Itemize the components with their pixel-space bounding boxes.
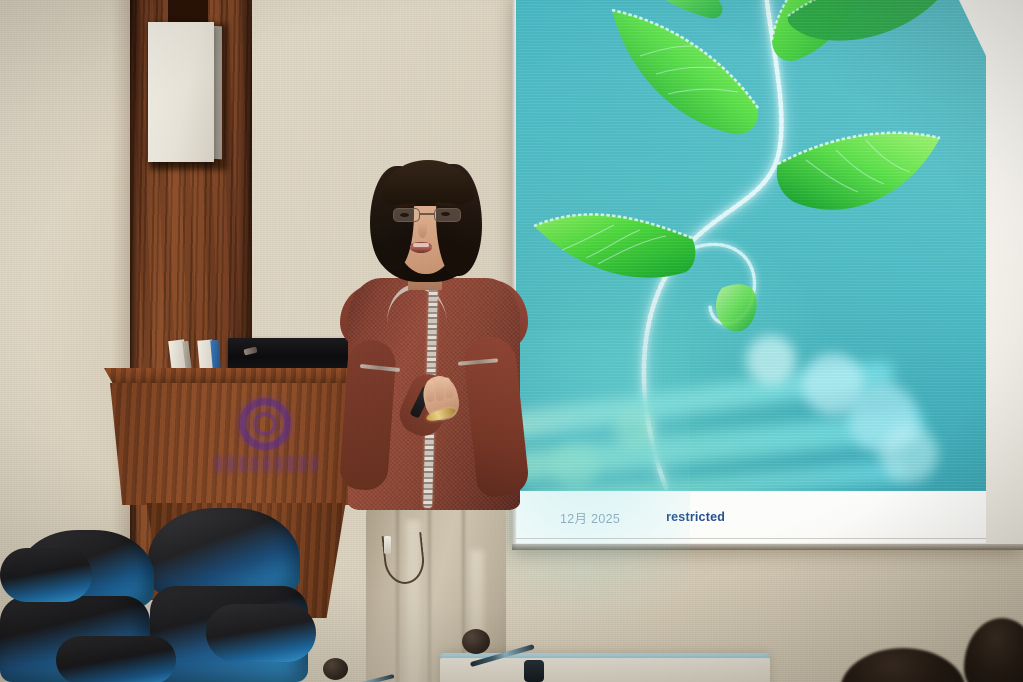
chair-armrest[interactable]	[206, 604, 316, 662]
presenter-left-eye	[400, 213, 409, 217]
microphone-capsule[interactable]	[462, 629, 490, 654]
podium-emblem-inner-icon	[253, 412, 277, 436]
screen-bottom-edge	[512, 544, 1023, 550]
slide-classification-label: restricted	[666, 510, 725, 524]
slide-date-label: 12月 2025	[560, 508, 620, 527]
mic-transmitter-clip	[384, 536, 391, 554]
slide-footer: 12月 2025 restricted	[516, 491, 986, 543]
microphone-base	[524, 660, 544, 682]
presenter-teeth	[413, 243, 429, 247]
microphone-capsule[interactable]	[323, 658, 348, 680]
presenter-nose	[418, 222, 427, 238]
footer-divider	[516, 538, 986, 539]
slide-artwork	[516, 0, 986, 491]
light-streaks	[516, 291, 986, 491]
conference-room-photo: 12月 2025 restricted	[0, 0, 1023, 682]
chair-armrest[interactable]	[0, 548, 92, 602]
podium-emblem-wordmark	[215, 456, 317, 472]
presenter-right-eye	[441, 212, 450, 216]
wall-sconce-panel	[148, 22, 214, 162]
sconce-mount-shadow	[168, 0, 208, 24]
presenter	[330, 160, 540, 682]
chair-armrest[interactable]	[56, 636, 176, 682]
glasses-bridge	[420, 213, 434, 215]
column-left-edge	[130, 0, 140, 600]
projection-screen: 12月 2025 restricted	[512, 0, 1023, 550]
